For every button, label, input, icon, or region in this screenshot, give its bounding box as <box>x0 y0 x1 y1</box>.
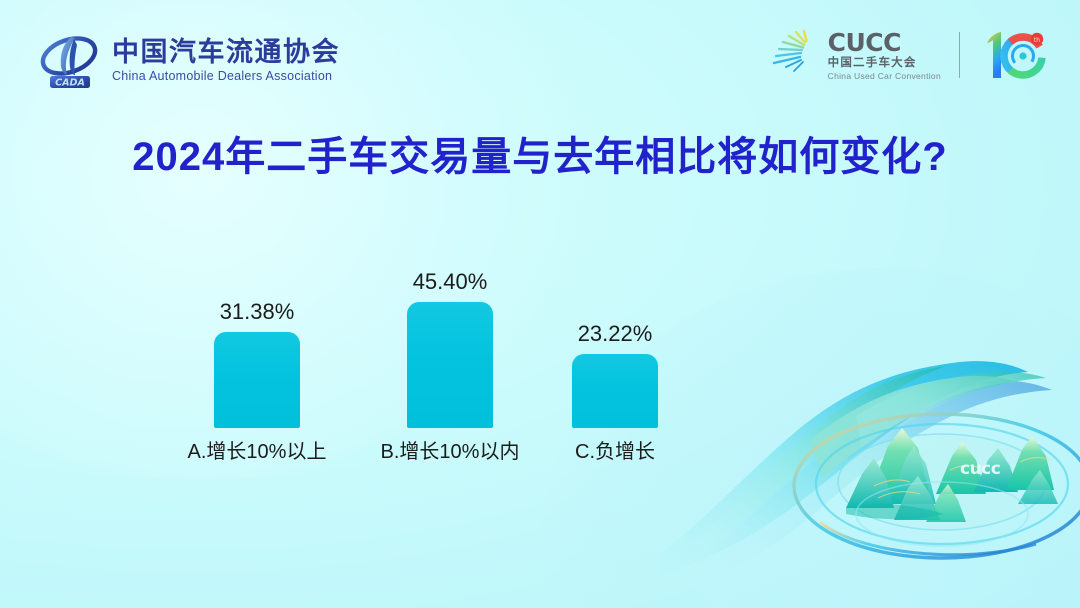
cada-name-cn: 中国汽车流通协会 <box>112 39 340 66</box>
cucc-name-en: China Used Car Convention <box>828 72 941 81</box>
anniversary-10-icon: th <box>978 26 1046 84</box>
bar-value-label: 45.40% <box>413 269 488 295</box>
svg-text:cucc: cucc <box>960 459 1000 479</box>
cada-swoosh-icon: CADA <box>40 32 100 90</box>
mountain-ripple-illustration: cucc <box>660 308 1080 608</box>
cucc-name-cn: 中国二手车大会 <box>828 58 941 70</box>
svg-text:th: th <box>1034 37 1040 44</box>
cucc-acronym: CUCC <box>828 30 941 55</box>
logo-divider <box>959 32 960 78</box>
bar-category-label: A.增长10%以上 <box>188 435 327 464</box>
bar-rect[interactable] <box>407 302 493 428</box>
bar-category-label: C.负增长 <box>575 435 655 464</box>
bar-group-0: 31.38% A.增长10%以上 <box>214 332 300 428</box>
bar-chart: 31.38% A.增长10%以上 45.40% B.增长10%以内 23.22%… <box>180 260 700 470</box>
cucc-burst-icon <box>770 29 826 81</box>
cada-name-en: China Automobile Dealers Association <box>112 70 340 83</box>
bar-rect[interactable] <box>572 354 658 428</box>
cucc-logo-group: CUCC 中国二手车大会 China Used Car Convention <box>770 26 1046 84</box>
slide-canvas: CADA 中国汽车流通协会 China Automobile Dealers A… <box>0 0 1080 608</box>
svg-text:CADA: CADA <box>55 78 85 89</box>
bar-group-2: 23.22% C.负增长 <box>572 354 658 428</box>
bar-value-label: 23.22% <box>578 321 653 347</box>
bar-category-label: B.增长10%以内 <box>381 435 520 464</box>
cada-logo-text: 中国汽车流通协会 China Automobile Dealers Associ… <box>112 39 340 83</box>
bar-group-1: 45.40% B.增长10%以内 <box>407 302 493 428</box>
bar-value-label: 31.38% <box>220 299 295 325</box>
cada-logo: CADA 中国汽车流通协会 China Automobile Dealers A… <box>40 32 340 90</box>
cucc-logo: CUCC 中国二手车大会 China Used Car Convention <box>770 29 941 81</box>
page-title: 2024年二手车交易量与去年相比将如何变化? <box>0 124 1080 182</box>
bar-rect[interactable] <box>214 332 300 428</box>
cucc-text-block: CUCC 中国二手车大会 China Used Car Convention <box>828 30 941 80</box>
